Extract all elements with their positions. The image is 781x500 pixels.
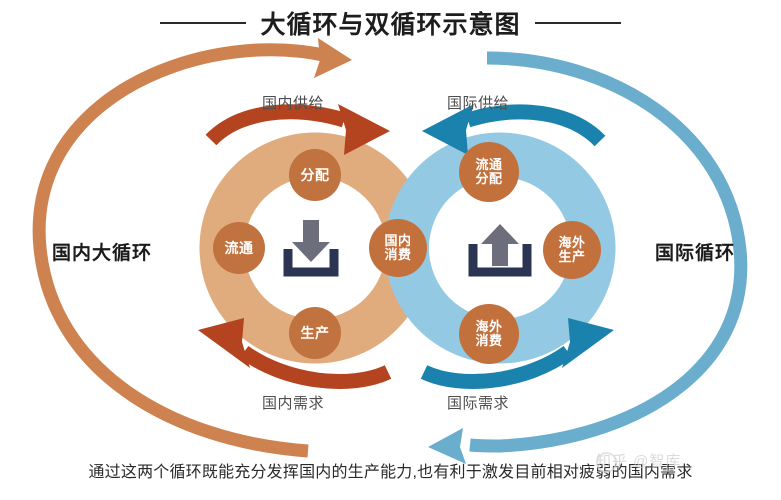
node-label-line: 分配	[475, 172, 502, 186]
node-overseas-production[interactable]: 海外生产	[543, 221, 601, 279]
node-label-line: 流通	[475, 158, 502, 172]
title-rule-left	[160, 22, 246, 24]
label-international-demand: 国际需求	[447, 392, 509, 413]
node-label-line: 消费	[475, 334, 502, 348]
node-label-line: 消费	[384, 248, 411, 262]
node-label-line: 生产	[558, 250, 585, 264]
label-international-cycle: 国际循环	[655, 238, 735, 265]
node-overseas-consumption[interactable]: 海外消费	[459, 304, 519, 364]
caption-text: 通过这两个循环既能充分发挥国内的生产能力,也有利于激发目前相对疲弱的国内需求	[0, 458, 781, 482]
node-label-line: 分配	[301, 168, 330, 183]
diagram-canvas: 大循环与双循环示意图 国内大循环 国际循环 国内供给 国际供给 国内需求 国际需…	[0, 0, 781, 500]
node-fenpei[interactable]: 分配	[289, 149, 341, 201]
node-circulation-distribution[interactable]: 流通分配	[459, 142, 519, 202]
node-label-line: 生产	[301, 326, 330, 341]
node-label-line: 海外	[475, 320, 502, 334]
node-label-line: 海外	[558, 236, 585, 250]
watermark-logo-icon	[596, 452, 617, 473]
node-label-line: 流通	[225, 241, 254, 256]
node-label-line: 国内	[384, 234, 411, 248]
node-liutong[interactable]: 流通	[213, 222, 265, 274]
label-domestic-grand-cycle: 国内大循环	[52, 238, 152, 265]
page-title: 大循环与双循环示意图	[260, 5, 520, 41]
label-domestic-supply: 国内供给	[262, 92, 324, 113]
node-domestic-consumption[interactable]: 国内消费	[369, 219, 427, 277]
label-domestic-demand: 国内需求	[262, 392, 324, 413]
node-shengchan[interactable]: 生产	[289, 307, 341, 359]
title-bar: 大循环与双循环示意图	[0, 6, 781, 40]
label-international-supply: 国际供给	[447, 92, 509, 113]
title-rule-right	[535, 22, 621, 24]
